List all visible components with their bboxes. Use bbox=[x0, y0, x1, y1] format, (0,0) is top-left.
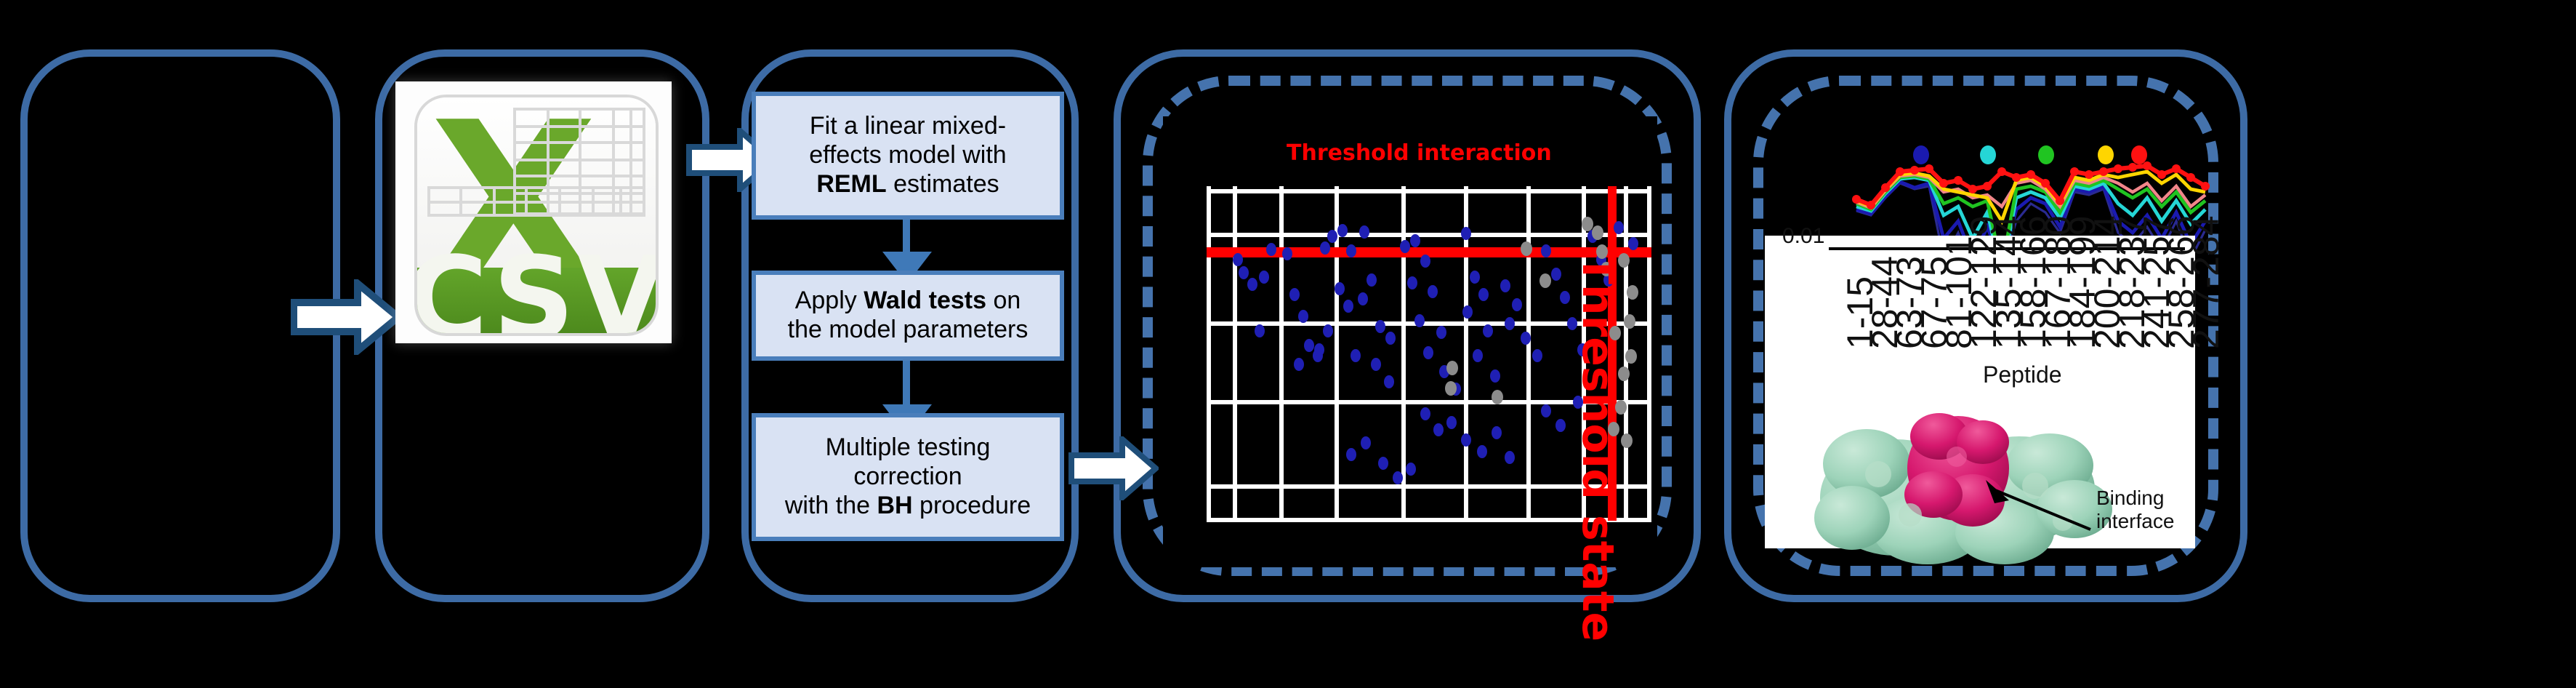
scatter-title: Threshold interaction bbox=[1287, 140, 1552, 166]
csv-format-label: CSV bbox=[415, 235, 659, 336]
csv-grid-lower bbox=[427, 185, 646, 216]
binding-interface-annotation: Binding interface bbox=[2096, 486, 2174, 532]
step-fit-model-line2: effects model with bbox=[809, 141, 1007, 169]
workflow-diagram: X bbox=[0, 0, 2576, 688]
step-mt-bh: BH bbox=[877, 492, 912, 519]
scatter-plot: Threshold interaction bbox=[1163, 116, 1657, 567]
y-axis-tick-label: 0.01 bbox=[1782, 224, 1824, 249]
step-wald-bold: Wald tests bbox=[864, 287, 986, 314]
step-fit-model[interactable]: Fit a linear mixed- effects model with R… bbox=[752, 92, 1064, 220]
threshold-state-label: Threshold state bbox=[1571, 255, 1622, 641]
step-wald-on: on bbox=[986, 287, 1021, 314]
step-fit-model-reml: REML bbox=[816, 170, 886, 198]
step-mt-proc: procedure bbox=[913, 492, 1031, 519]
peptide-tick-14: 277-284 bbox=[2186, 216, 2229, 350]
csv-file-icon: X bbox=[395, 81, 672, 343]
csv-x-letter: X bbox=[430, 101, 515, 183]
step-fit-model-estimates: estimates bbox=[887, 170, 999, 198]
x-axis-label: Peptide bbox=[1983, 364, 2062, 390]
csv-format-band: CSV bbox=[418, 267, 656, 333]
step-multiple-testing[interactable]: Multiple testing correction with the BH … bbox=[752, 413, 1064, 541]
step-mt-with: with the bbox=[785, 492, 877, 519]
step-wald-line2: the model parameters bbox=[788, 316, 1029, 343]
step-mt-line2: correction bbox=[853, 463, 962, 490]
step-mt-line1: Multiple testing bbox=[826, 433, 991, 461]
step-wald-tests[interactable]: Apply Wald tests on the model parameters bbox=[752, 271, 1064, 361]
arrow-stats-to-results bbox=[1068, 436, 1159, 500]
binding-interface-line1: Binding bbox=[2096, 486, 2174, 509]
csv-icon-body: X bbox=[415, 95, 659, 336]
arrow-into-data bbox=[291, 279, 401, 355]
peptide-axis-and-structure-card: 0.01 1-15 28-44 63-73 67-75 81-101 122-1… bbox=[1765, 236, 2195, 548]
binding-interface-line2: interface bbox=[2096, 509, 2174, 532]
connector-1 bbox=[903, 220, 910, 255]
connector-2 bbox=[903, 361, 910, 407]
step-fit-model-line1: Fit a linear mixed- bbox=[810, 112, 1006, 140]
step-wald-apply: Apply bbox=[795, 287, 864, 314]
